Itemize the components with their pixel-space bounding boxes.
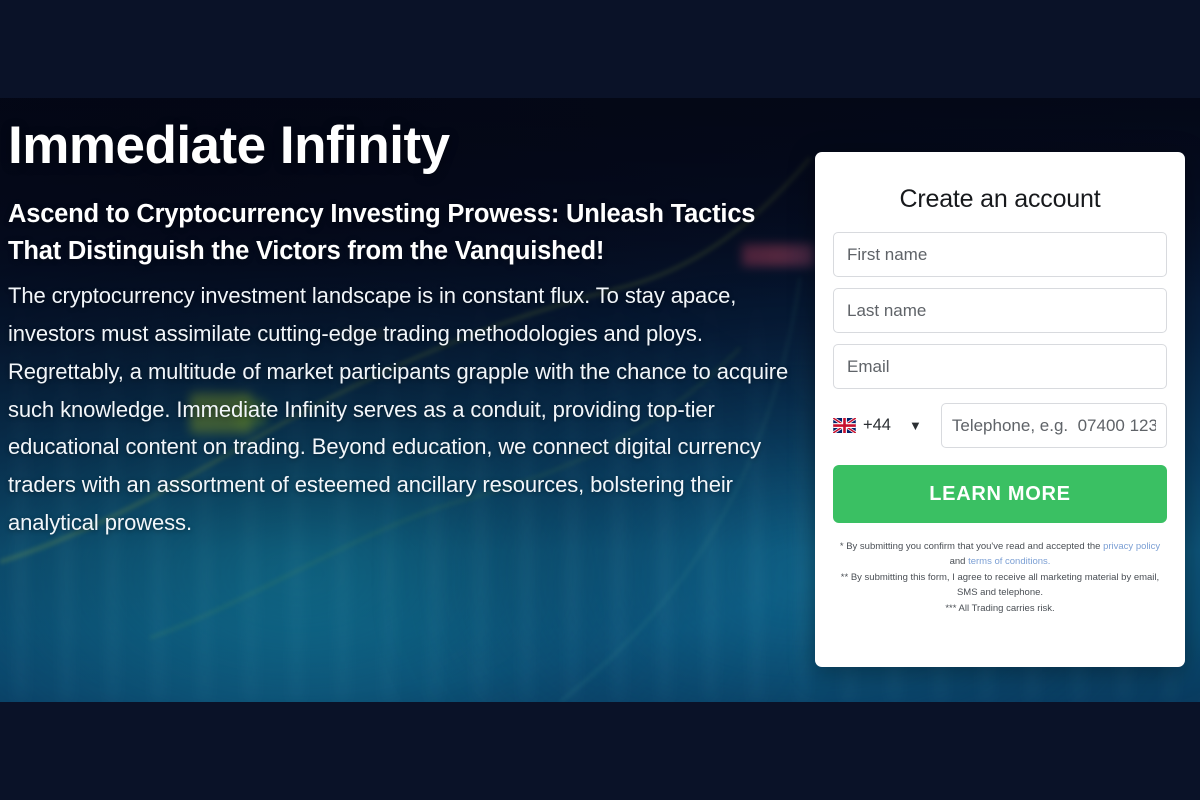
cta-wrapper: LEARN MORE	[815, 448, 1185, 523]
phone-row: +44 ▼	[815, 400, 1185, 448]
disclaimer-line-3: *** All Trading carries risk.	[835, 601, 1165, 616]
form-title: Create an account	[815, 152, 1185, 232]
page-root: 1168.96 Immediate Infinity Ascend to Cry…	[0, 0, 1200, 800]
hero-body-text: The cryptocurrency investment landscape …	[8, 277, 798, 542]
hero-text-column: Immediate Infinity Ascend to Cryptocurre…	[8, 118, 798, 542]
last-name-input[interactable]	[833, 288, 1167, 333]
hero-subtitle: Ascend to Cryptocurrency Investing Prowe…	[8, 196, 798, 271]
disclaimer-line-1: * By submitting you confirm that you've …	[835, 539, 1165, 570]
chevron-down-icon: ▼	[909, 419, 922, 432]
disclaimer-line-2: ** By submitting this form, I agree to r…	[835, 570, 1165, 601]
disclaimer-line-1-text: * By submitting you confirm that you've …	[840, 541, 1103, 552]
first-name-field-wrapper	[815, 232, 1185, 288]
email-input[interactable]	[833, 344, 1167, 389]
dial-code-label: +44	[863, 416, 891, 435]
disclaimer-text: * By submitting you confirm that you've …	[815, 523, 1185, 616]
country-code-selector[interactable]: +44 ▼	[833, 416, 928, 435]
bottom-dark-band	[0, 702, 1200, 800]
privacy-policy-link[interactable]: privacy policy	[1103, 541, 1160, 552]
page-title: Immediate Infinity	[8, 118, 798, 174]
disclaimer-conjunction: and	[950, 556, 969, 567]
last-name-field-wrapper	[815, 288, 1185, 344]
signup-form-card: Create an account +44 ▼	[815, 152, 1185, 667]
uk-flag-icon	[833, 418, 856, 433]
learn-more-button[interactable]: LEARN MORE	[833, 465, 1167, 523]
telephone-input[interactable]	[941, 403, 1167, 448]
terms-link[interactable]: terms of conditions.	[968, 556, 1050, 567]
first-name-input[interactable]	[833, 232, 1167, 277]
email-field-wrapper	[815, 344, 1185, 400]
